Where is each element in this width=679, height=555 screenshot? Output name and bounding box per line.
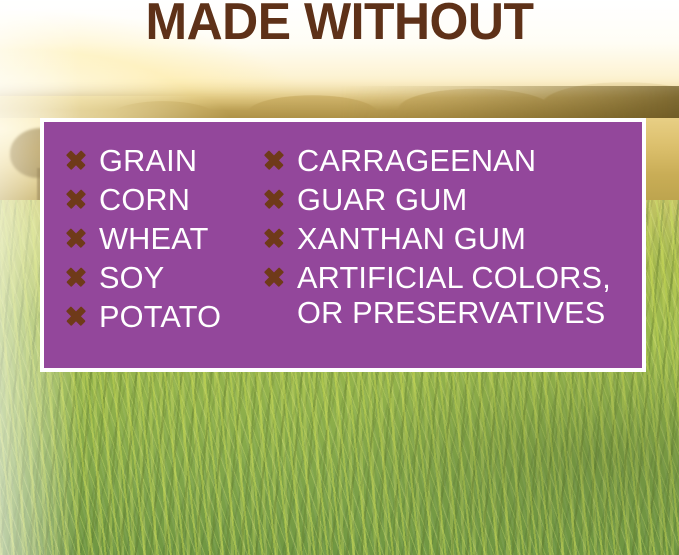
panel-inner: GRAIN CORN WHEAT SOY — [44, 122, 642, 368]
x-mark-icon — [66, 228, 86, 248]
list-item-label: GRAIN — [99, 143, 197, 178]
list-item-label: CARRAGEENAN — [297, 143, 536, 178]
list-item: SOY — [66, 260, 264, 299]
list-item: ARTIFICIAL COLORS, OR PRESERVATIVES — [264, 260, 632, 330]
x-mark-icon — [264, 228, 284, 248]
list-item: WHEAT — [66, 221, 264, 260]
x-mark-icon — [66, 150, 86, 170]
list-item-label: POTATO — [99, 299, 221, 334]
x-mark-icon — [66, 306, 86, 326]
made-without-panel: GRAIN CORN WHEAT SOY — [40, 118, 646, 372]
x-mark-icon — [66, 267, 86, 287]
list-item-label: WHEAT — [99, 221, 209, 256]
list-item-label: SOY — [99, 260, 164, 295]
list-item: CARRAGEENAN — [264, 143, 632, 182]
x-mark-icon — [264, 267, 284, 287]
product-label-panel: MADE WITHOUT GRAIN CORN WHEAT — [0, 0, 679, 555]
list-item-label: GUAR GUM — [297, 182, 467, 217]
page-title: MADE WITHOUT — [14, 0, 666, 47]
list-item: POTATO — [66, 299, 264, 338]
list-item-label: XANTHAN GUM — [297, 221, 526, 256]
list-item: XANTHAN GUM — [264, 221, 632, 260]
list-item-label: CORN — [99, 182, 190, 217]
list-item-label: ARTIFICIAL COLORS, OR PRESERVATIVES — [297, 260, 611, 330]
right-ingredient-column: CARRAGEENAN GUAR GUM XANTHAN GUM ARTIFIC… — [264, 143, 632, 362]
x-mark-icon — [66, 189, 86, 209]
list-item: GRAIN — [66, 143, 264, 182]
x-mark-icon — [264, 189, 284, 209]
ingredient-columns: GRAIN CORN WHEAT SOY — [66, 143, 632, 362]
list-item: GUAR GUM — [264, 182, 632, 221]
left-ingredient-column: GRAIN CORN WHEAT SOY — [66, 143, 264, 362]
list-item: CORN — [66, 182, 264, 221]
x-mark-icon — [264, 150, 284, 170]
